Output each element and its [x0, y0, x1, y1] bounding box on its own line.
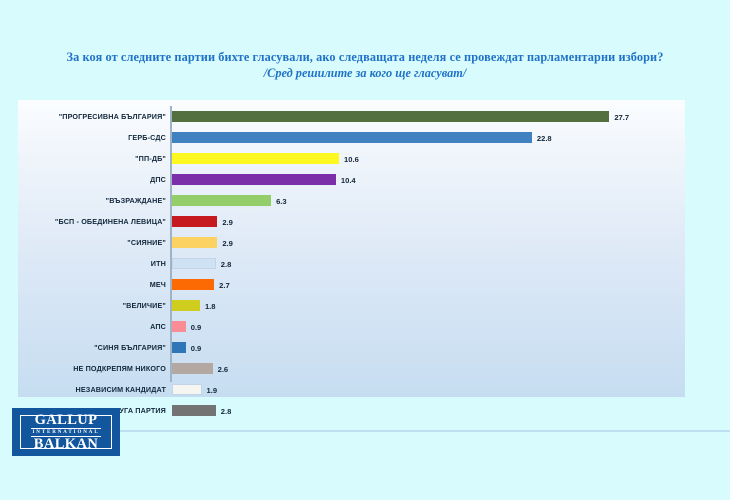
chart-panel: "ПРОГРЕСИВНА БЪЛГАРИЯ"27.7ГЕРБ-СДС22.8"П… [18, 100, 685, 397]
bar-value-label: 2.9 [222, 217, 233, 228]
bar-category-label: НЕЗАВИСИМ КАНДИДАТ [18, 385, 166, 394]
gallup-balkan-logo: GALLUP INTERNATIONAL BALKAN [12, 408, 120, 456]
bar-row: "ПРОГРЕСИВНА БЪЛГАРИЯ"27.7 [18, 106, 685, 127]
bar-shape [172, 216, 218, 227]
bar-value-label: 2.6 [218, 364, 229, 375]
bar-shape [172, 279, 215, 290]
footer-divider [120, 430, 730, 432]
chart-title-block: За коя от следните партии бихте гласувал… [0, 50, 730, 81]
bar-row: НЕ ПОДКРЕПЯМ НИКОГО2.6 [18, 358, 685, 379]
bar-row: НЕЗАВИСИМ КАНДИДАТ1.9 [18, 379, 685, 400]
bar-shape [172, 153, 340, 164]
bar-shape [172, 363, 213, 374]
bar-row: АПС0.9 [18, 316, 685, 337]
bar-shape [172, 321, 186, 332]
bar-category-label: АПС [18, 322, 166, 331]
bar-value-label: 2.8 [221, 406, 232, 417]
bar-value-label: 0.9 [191, 343, 202, 354]
bar-shape [172, 111, 610, 122]
bar-shape [172, 237, 218, 248]
page-subtitle: /Сред решилите за кого ще гласуват/ [0, 65, 730, 81]
page-title: За коя от следните партии бихте гласувал… [0, 50, 730, 65]
bar-value-label: 10.4 [341, 175, 356, 186]
bar-category-label: МЕЧ [18, 280, 166, 289]
bar-value-label: 22.8 [537, 133, 552, 144]
logo-frame: GALLUP INTERNATIONAL BALKAN [20, 415, 112, 449]
bar-value-label: 2.9 [222, 238, 233, 249]
bar-row: ИТН2.8 [18, 253, 685, 274]
bar-category-label: НЕ ПОДКРЕПЯМ НИКОГО [18, 364, 166, 373]
bar-category-label: "ПП-ДБ" [18, 154, 166, 163]
bar-value-label: 6.3 [276, 196, 287, 207]
bar-category-label: "ПРОГРЕСИВНА БЪЛГАРИЯ" [18, 112, 166, 121]
logo-balkan-text: BALKAN [34, 437, 98, 451]
bar-value-label: 0.9 [191, 322, 202, 333]
bar-shape [172, 384, 202, 395]
bar-row: МЕЧ2.7 [18, 274, 685, 295]
logo-gallup-text: GALLUP [35, 413, 98, 427]
bar-shape [172, 300, 200, 311]
bar-category-label: "ВЕЛИЧИЕ" [18, 301, 166, 310]
bar-category-label: ДПС [18, 175, 166, 184]
bar-shape [172, 195, 272, 206]
bar-row: ГЕРБ-СДС22.8 [18, 127, 685, 148]
bar-value-label: 1.8 [205, 301, 216, 312]
bar-shape [172, 405, 216, 416]
bar-value-label: 2.7 [219, 280, 230, 291]
bar-category-label: "ВЪЗРАЖДАНЕ" [18, 196, 166, 205]
bar-value-label: 1.9 [207, 385, 218, 396]
bar-row: "ПП-ДБ"10.6 [18, 148, 685, 169]
plot-area: "ПРОГРЕСИВНА БЪЛГАРИЯ"27.7ГЕРБ-СДС22.8"П… [18, 100, 685, 397]
bar-category-label: "БСП - ОБЕДИНЕНА ЛЕВИЦА" [18, 217, 166, 226]
bar-row: "ВЪЗРАЖДАНЕ"6.3 [18, 190, 685, 211]
bar-category-label: ИТН [18, 259, 166, 268]
bar-shape [172, 342, 186, 353]
bar-shape [172, 174, 336, 185]
bar-row: "БСП - ОБЕДИНЕНА ЛЕВИЦА"2.9 [18, 211, 685, 232]
bar-value-label: 27.7 [614, 112, 629, 123]
bar-category-label: "СИНЯ БЪЛГАРИЯ" [18, 343, 166, 352]
bar-value-label: 10.6 [344, 154, 359, 165]
bar-row: "СИЯНИЕ"2.9 [18, 232, 685, 253]
bar-row: "ВЕЛИЧИЕ"1.8 [18, 295, 685, 316]
bar-shape [172, 132, 532, 143]
bar-category-label: "СИЯНИЕ" [18, 238, 166, 247]
bar-row: "СИНЯ БЪЛГАРИЯ"0.9 [18, 337, 685, 358]
bar-value-label: 2.8 [221, 259, 232, 270]
bar-shape [172, 258, 216, 269]
bar-category-label: ГЕРБ-СДС [18, 133, 166, 142]
bar-row: ДПС10.4 [18, 169, 685, 190]
